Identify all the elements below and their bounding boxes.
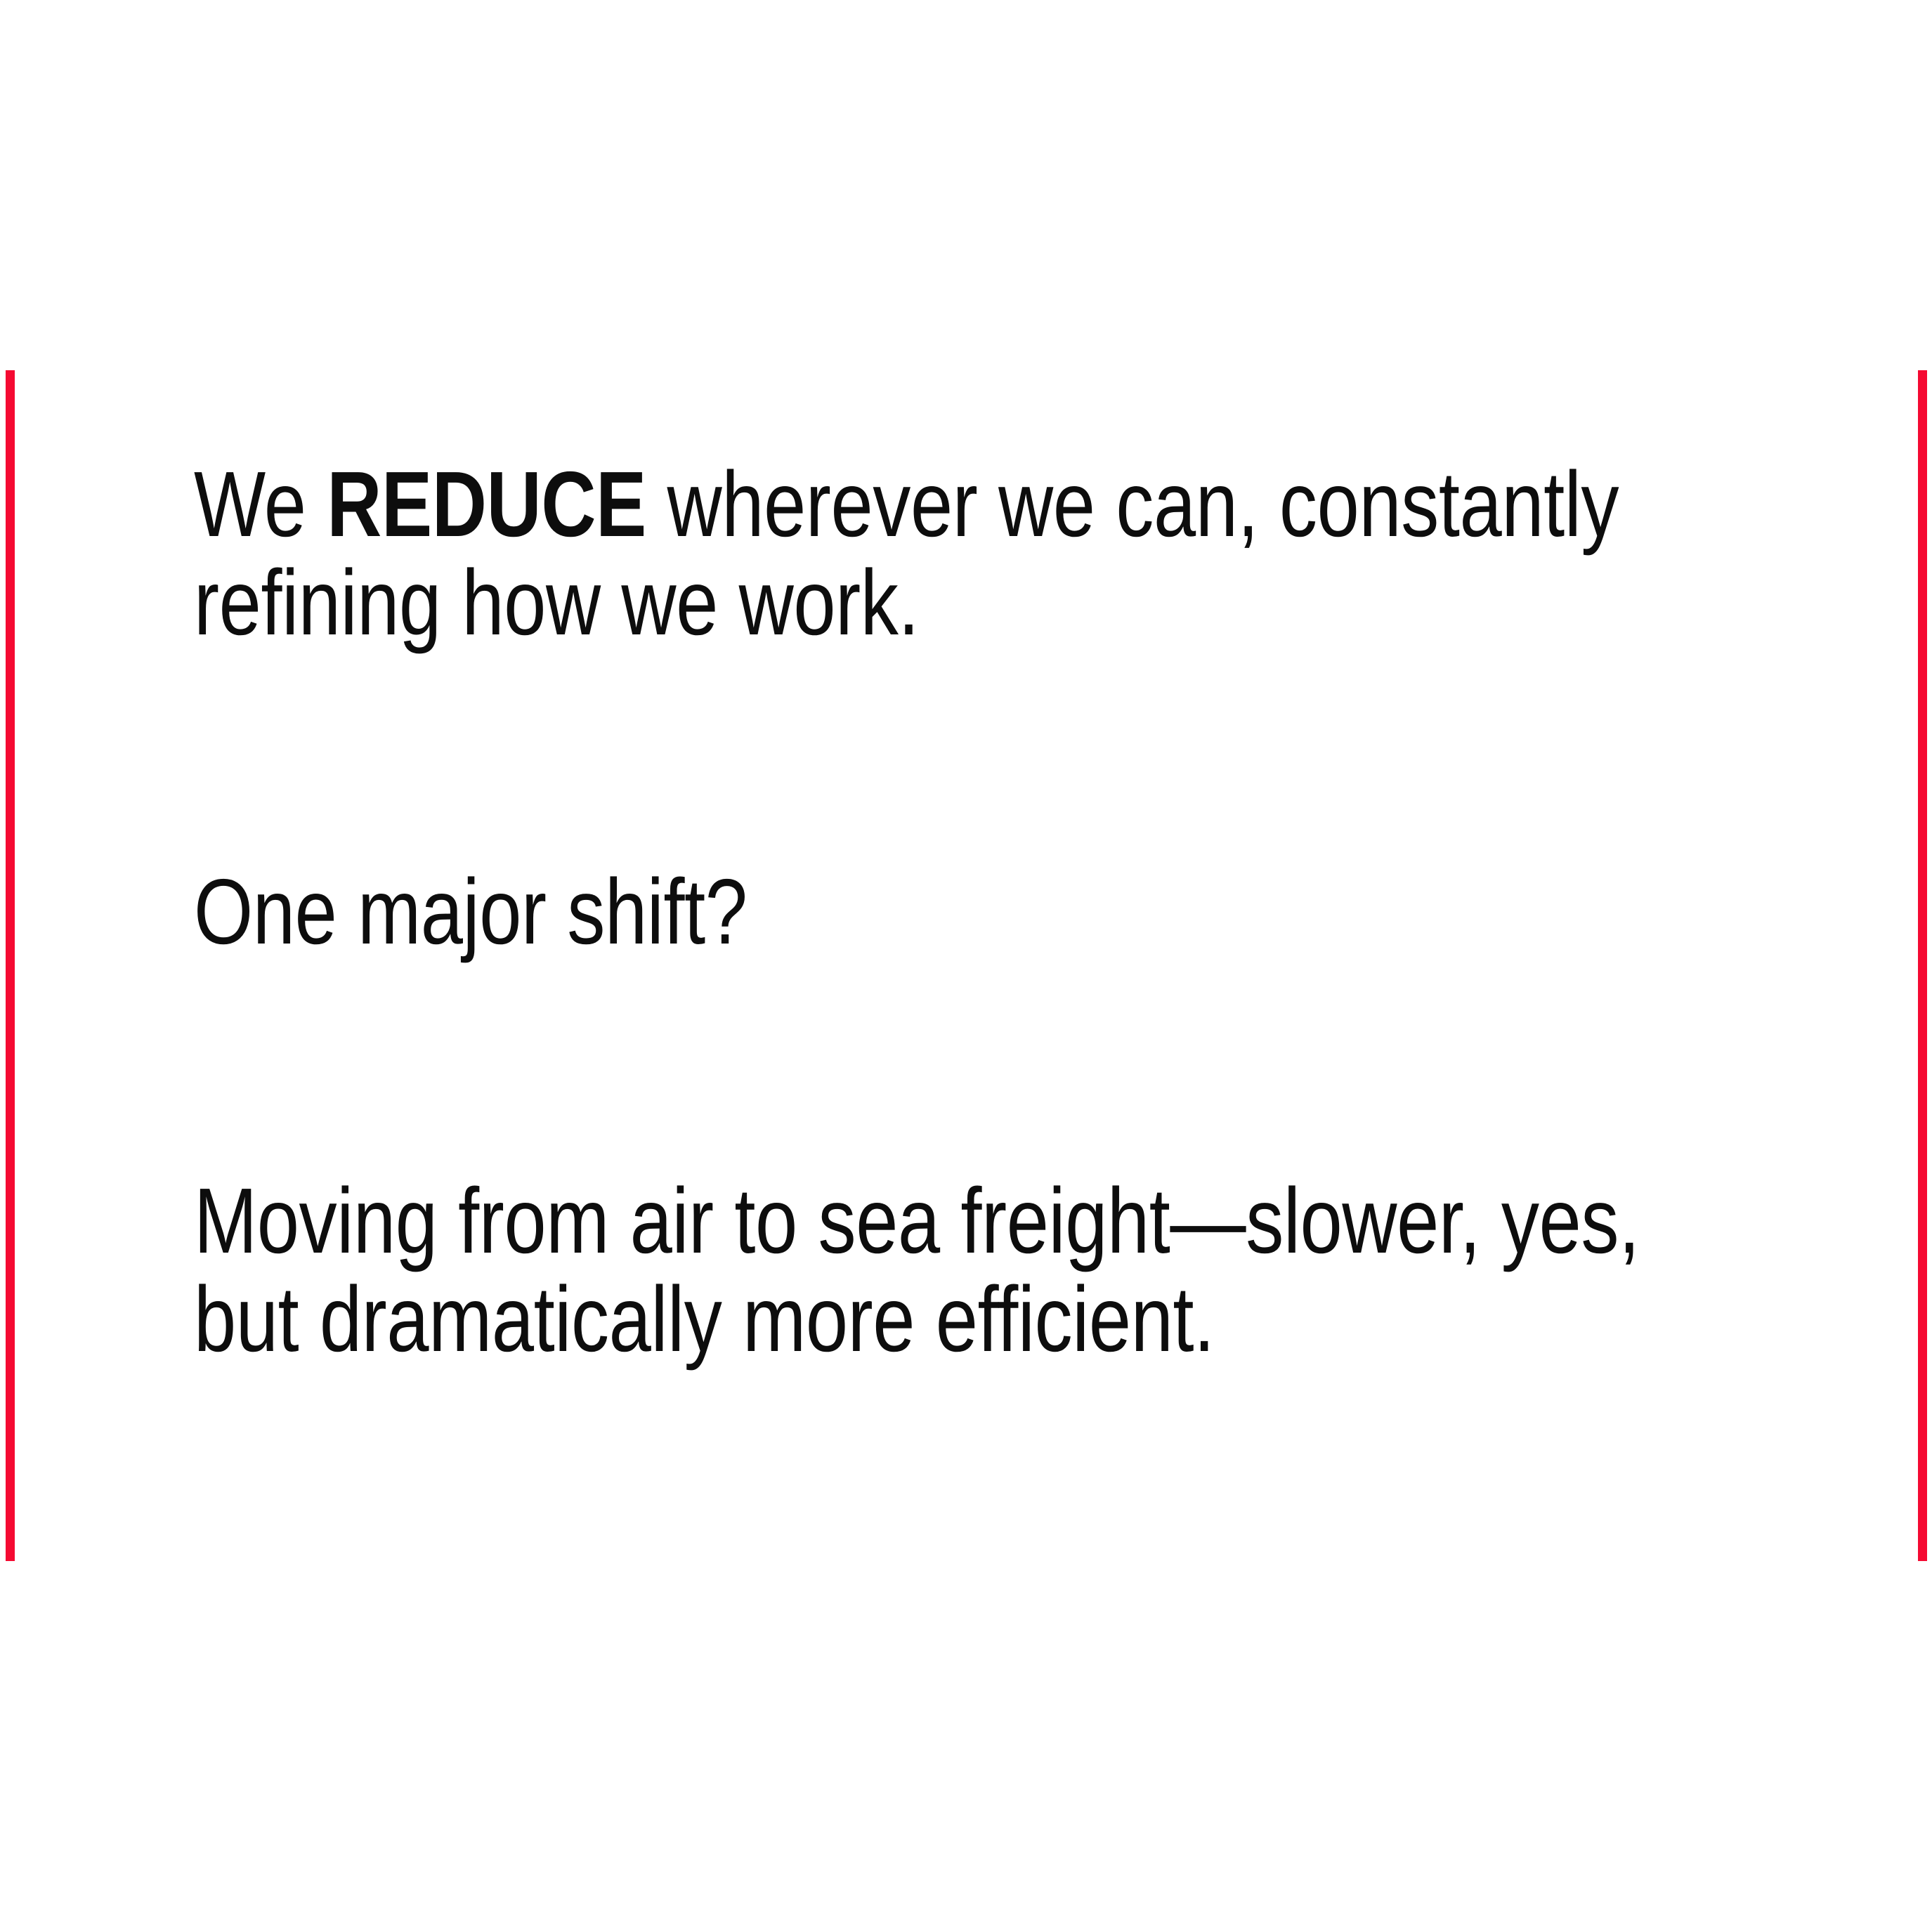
- paragraph-gap-two: [194, 961, 1740, 1172]
- left-red-vertical-rule: [6, 370, 15, 1561]
- paragraph-freight: Moving from air to sea freight—slower, y…: [194, 1172, 1740, 1369]
- paragraph-reduce: We REDUCE wherever we can, constantly re…: [194, 455, 1740, 652]
- slide-canvas: We REDUCE wherever we can, constantly re…: [0, 0, 1932, 1932]
- paragraph-question: One major shift?: [194, 863, 1740, 961]
- text-column: We REDUCE wherever we can, constantly re…: [194, 455, 1740, 1369]
- paragraph-reduce-lead: We: [194, 452, 327, 556]
- paragraph-reduce-emphasis: REDUCE: [327, 452, 646, 556]
- paragraph-gap-one: [194, 652, 1740, 863]
- right-red-vertical-rule: [1918, 370, 1927, 1561]
